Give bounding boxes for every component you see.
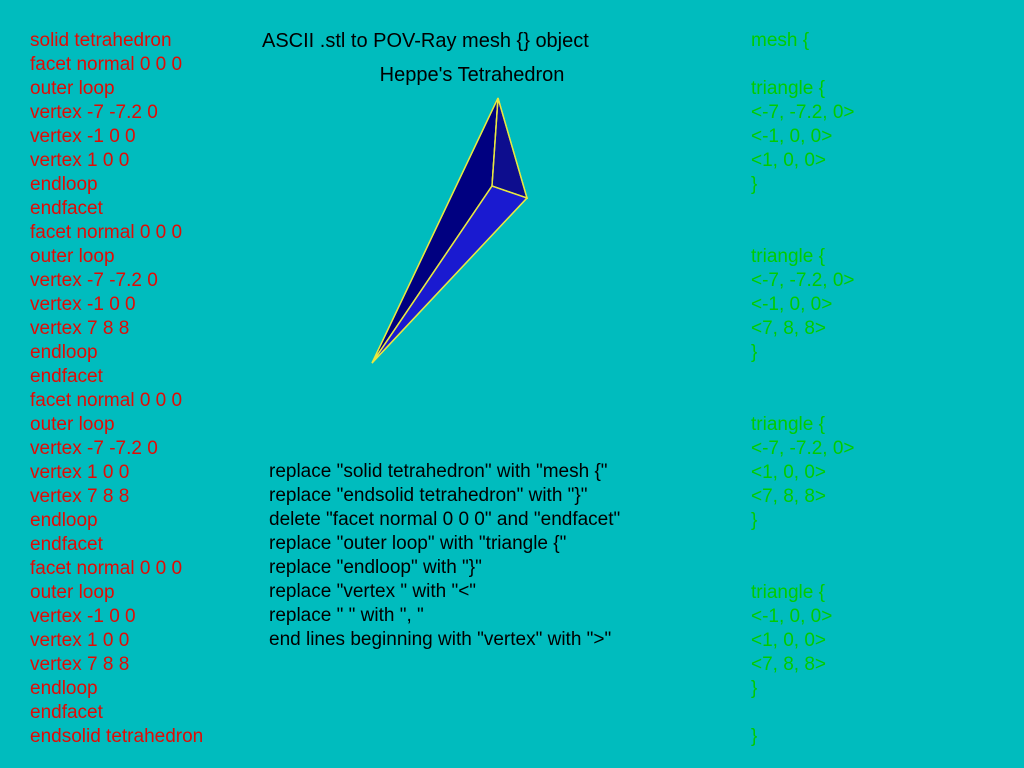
tetra-edge-mid-right — [492, 186, 527, 198]
stl-line-20: endloop — [30, 509, 203, 533]
stl-line-3: vertex -7 -7.2 0 — [30, 101, 203, 125]
stl-line-26: vertex 7 8 8 — [30, 653, 203, 677]
tetra-face-sliver — [492, 98, 527, 198]
pov-line-6: } — [751, 173, 855, 197]
stl-line-24: vertex -1 0 0 — [30, 605, 203, 629]
tetra-edge-outline — [372, 98, 527, 363]
stl-line-23: outer loop — [30, 581, 203, 605]
tetra-face-left — [372, 98, 498, 363]
slide-canvas: ASCII .stl to POV-Ray mesh {} object Hep… — [0, 0, 1024, 768]
pov-line-24: <-1, 0, 0> — [751, 605, 855, 629]
pov-line-2: triangle { — [751, 77, 855, 101]
pov-line-4: <-1, 0, 0> — [751, 125, 855, 149]
pov-line-13: } — [751, 341, 855, 365]
stl-line-10: vertex -7 -7.2 0 — [30, 269, 203, 293]
stl-line-2: outer loop — [30, 77, 203, 101]
instruction-line-0: replace "solid tetrahedron" with "mesh {… — [269, 460, 620, 484]
tetra-edge-apex-mid — [492, 98, 498, 186]
instruction-line-5: replace "vertex " with "<" — [269, 580, 620, 604]
instruction-line-4: replace "endloop" with "}" — [269, 556, 620, 580]
stl-source-column: solid tetrahedronfacet normal 0 0 0outer… — [30, 29, 203, 749]
title-block: ASCII .stl to POV-Ray mesh {} object Hep… — [262, 28, 682, 88]
stl-line-22: facet normal 0 0 0 — [30, 557, 203, 581]
stl-line-0: solid tetrahedron — [30, 29, 203, 53]
stl-line-6: endloop — [30, 173, 203, 197]
povray-mesh-column: mesh { triangle {<-7, -7.2, 0><-1, 0, 0>… — [751, 29, 855, 749]
stl-line-1: facet normal 0 0 0 — [30, 53, 203, 77]
pov-line-18: <1, 0, 0> — [751, 461, 855, 485]
pov-line-21 — [751, 533, 855, 557]
stl-line-19: vertex 7 8 8 — [30, 485, 203, 509]
pov-line-9: triangle { — [751, 245, 855, 269]
stl-line-15: facet normal 0 0 0 — [30, 389, 203, 413]
instruction-line-2: delete "facet normal 0 0 0" and "endface… — [269, 508, 620, 532]
pov-line-16: triangle { — [751, 413, 855, 437]
stl-line-5: vertex 1 0 0 — [30, 149, 203, 173]
pov-line-7 — [751, 197, 855, 221]
stl-line-13: endloop — [30, 341, 203, 365]
pov-line-25: <1, 0, 0> — [751, 629, 855, 653]
pov-line-14 — [751, 365, 855, 389]
stl-line-17: vertex -7 -7.2 0 — [30, 437, 203, 461]
stl-line-25: vertex 1 0 0 — [30, 629, 203, 653]
pov-line-26: <7, 8, 8> — [751, 653, 855, 677]
instruction-line-3: replace "outer loop" with "triangle {" — [269, 532, 620, 556]
stl-line-11: vertex -1 0 0 — [30, 293, 203, 317]
stl-line-28: endfacet — [30, 701, 203, 725]
pov-line-15 — [751, 389, 855, 413]
instruction-line-7: end lines beginning with "vertex" with "… — [269, 628, 620, 652]
pov-line-29: } — [751, 725, 855, 749]
pov-line-27: } — [751, 677, 855, 701]
stl-line-7: endfacet — [30, 197, 203, 221]
tetra-face-right — [372, 186, 527, 363]
pov-line-20: } — [751, 509, 855, 533]
stl-line-8: facet normal 0 0 0 — [30, 221, 203, 245]
stl-line-9: outer loop — [30, 245, 203, 269]
pov-line-22 — [751, 557, 855, 581]
pov-line-5: <1, 0, 0> — [751, 149, 855, 173]
stl-line-18: vertex 1 0 0 — [30, 461, 203, 485]
instruction-line-6: replace " " with ", " — [269, 604, 620, 628]
pov-line-17: <-7, -7.2, 0> — [751, 437, 855, 461]
stl-line-21: endfacet — [30, 533, 203, 557]
stl-line-27: endloop — [30, 677, 203, 701]
pov-line-23: triangle { — [751, 581, 855, 605]
stl-line-16: outer loop — [30, 413, 203, 437]
pov-line-8 — [751, 221, 855, 245]
page-title: ASCII .stl to POV-Ray mesh {} object — [262, 28, 682, 54]
pov-line-10: <-7, -7.2, 0> — [751, 269, 855, 293]
page-subtitle: Heppe's Tetrahedron — [262, 62, 682, 88]
stl-line-14: endfacet — [30, 365, 203, 389]
stl-line-29: endsolid tetrahedron — [30, 725, 203, 749]
pov-line-12: <7, 8, 8> — [751, 317, 855, 341]
conversion-instructions: replace "solid tetrahedron" with "mesh {… — [269, 460, 620, 652]
pov-line-28 — [751, 701, 855, 725]
pov-line-3: <-7, -7.2, 0> — [751, 101, 855, 125]
tetra-edge-mid-tip — [372, 186, 492, 363]
pov-line-1 — [751, 53, 855, 77]
stl-line-12: vertex 7 8 8 — [30, 317, 203, 341]
pov-line-11: <-1, 0, 0> — [751, 293, 855, 317]
stl-line-4: vertex -1 0 0 — [30, 125, 203, 149]
pov-line-0: mesh { — [751, 29, 855, 53]
instruction-line-1: replace "endsolid tetrahedron" with "}" — [269, 484, 620, 508]
pov-line-19: <7, 8, 8> — [751, 485, 855, 509]
